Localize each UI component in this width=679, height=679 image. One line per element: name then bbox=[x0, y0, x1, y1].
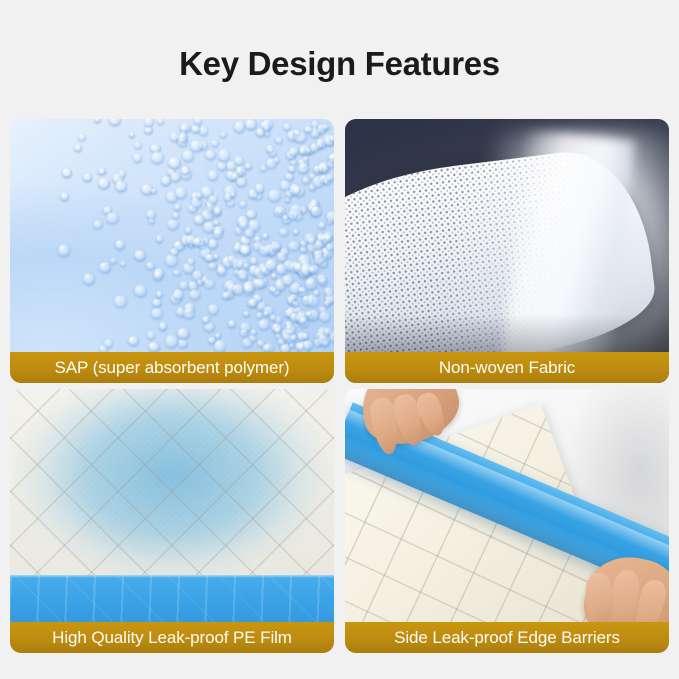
sap-bead bbox=[317, 124, 327, 134]
sap-bead bbox=[288, 241, 300, 251]
sap-bead bbox=[151, 151, 163, 164]
sap-bead bbox=[114, 295, 127, 308]
sap-bead bbox=[202, 316, 210, 324]
sap-bead bbox=[312, 176, 324, 188]
sap-bead bbox=[239, 201, 247, 209]
sap-bead bbox=[190, 140, 202, 151]
sap-bead bbox=[173, 270, 180, 276]
sap-bead bbox=[289, 147, 299, 156]
key-design-features-page: Key Design Features SAP (super absorbent… bbox=[0, 0, 679, 679]
sap-bead bbox=[153, 271, 163, 282]
feature-card-edge-barriers[interactable]: Side Leak-proof Edge Barriers bbox=[345, 389, 669, 653]
sap-bead bbox=[243, 311, 250, 317]
sap-bead bbox=[187, 258, 195, 265]
feature-card-pe-film[interactable]: High Quality Leak-proof PE Film bbox=[10, 389, 334, 653]
sap-bead bbox=[271, 273, 277, 279]
sap-bead bbox=[115, 240, 125, 250]
sap-bead bbox=[288, 165, 296, 173]
sap-bead bbox=[115, 180, 127, 193]
sap-bead bbox=[289, 184, 301, 195]
sap-bead bbox=[150, 188, 157, 194]
feature-caption-edge-barriers: Side Leak-proof Edge Barriers bbox=[345, 622, 669, 653]
sap-bead bbox=[156, 235, 164, 243]
sap-bead bbox=[226, 161, 237, 171]
feature-card-non-woven-fabric[interactable]: Non-woven Fabric bbox=[345, 119, 669, 383]
sap-bead bbox=[234, 121, 245, 133]
feature-caption-sap: SAP (super absorbent polymer) bbox=[10, 352, 334, 383]
sap-bead bbox=[318, 222, 326, 229]
sap-bead bbox=[168, 157, 181, 169]
sap-bead bbox=[178, 339, 188, 348]
sap-bead bbox=[262, 233, 269, 239]
sap-bead bbox=[161, 176, 171, 186]
sap-bead bbox=[183, 308, 196, 319]
sap-bead bbox=[220, 132, 226, 138]
sap-bead bbox=[147, 331, 156, 339]
sap-bead bbox=[231, 258, 244, 269]
sap-bead bbox=[194, 119, 202, 125]
sap-bead bbox=[174, 204, 181, 211]
sap-bead bbox=[134, 250, 146, 261]
feature-caption-non-woven-fabric: Non-woven Fabric bbox=[345, 352, 669, 383]
sap-bead bbox=[60, 192, 69, 201]
pe-film-band bbox=[10, 575, 334, 622]
sap-bead bbox=[232, 284, 244, 295]
sap-bead bbox=[282, 275, 294, 286]
sap-bead bbox=[279, 228, 289, 237]
sap-bead bbox=[98, 178, 110, 189]
sap-bead bbox=[255, 183, 265, 193]
sap-bead bbox=[208, 304, 219, 316]
sap-bead bbox=[224, 193, 233, 202]
sap-bead bbox=[293, 229, 299, 235]
sap-bead bbox=[144, 127, 153, 135]
sap-bead bbox=[148, 342, 160, 353]
sap-bead bbox=[276, 264, 288, 275]
sap-bead bbox=[213, 206, 222, 215]
sap-bead bbox=[228, 320, 236, 329]
sap-bead bbox=[317, 274, 327, 284]
sap-bead bbox=[185, 227, 192, 235]
sap-bead bbox=[319, 311, 331, 322]
sap-bead bbox=[329, 135, 334, 142]
sap-bead bbox=[83, 173, 92, 182]
sap-bead bbox=[300, 246, 307, 253]
feature-card-sap[interactable]: SAP (super absorbent polymer) bbox=[10, 119, 334, 383]
sap-bead bbox=[98, 168, 105, 176]
sap-bead bbox=[151, 308, 163, 319]
sap-bead bbox=[175, 187, 187, 199]
sap-bead bbox=[298, 163, 309, 174]
sap-bead bbox=[324, 327, 332, 335]
sap-bead bbox=[173, 289, 184, 300]
sap-bead bbox=[243, 281, 255, 292]
sap-beads-cluster bbox=[10, 119, 334, 383]
sap-bead bbox=[314, 254, 324, 265]
sap-bead bbox=[258, 319, 270, 330]
sap-bead bbox=[290, 334, 297, 341]
sap-bead bbox=[259, 245, 270, 256]
sap-bead bbox=[305, 311, 312, 317]
sap-bead bbox=[177, 328, 189, 339]
sap-bead bbox=[129, 132, 135, 137]
sap-bead bbox=[167, 219, 179, 230]
sap-bead bbox=[74, 144, 82, 152]
sap-bead bbox=[292, 301, 298, 307]
sap-bead bbox=[215, 333, 221, 339]
sap-bead bbox=[236, 177, 247, 187]
sap-bead bbox=[245, 119, 257, 130]
sap-bead bbox=[245, 163, 252, 170]
sap-bead bbox=[303, 156, 309, 162]
sap-bead bbox=[120, 261, 126, 267]
sap-bead bbox=[204, 279, 215, 289]
sap-bead bbox=[208, 239, 219, 249]
sap-bead bbox=[146, 210, 156, 220]
sap-bead bbox=[266, 158, 277, 168]
sap-bead bbox=[246, 210, 256, 220]
sap-bead bbox=[264, 126, 270, 132]
sap-bead bbox=[310, 143, 320, 152]
sap-bead bbox=[192, 238, 201, 246]
sap-bead bbox=[222, 292, 230, 301]
non-woven-fabric-photo bbox=[345, 119, 669, 383]
sap-bead bbox=[303, 340, 313, 350]
sap-bead bbox=[208, 195, 218, 204]
feature-grid: SAP (super absorbent polymer) Non-woven … bbox=[10, 119, 669, 653]
feature-caption-pe-film: High Quality Leak-proof PE Film bbox=[10, 622, 334, 653]
sap-bead bbox=[213, 254, 219, 260]
sap-bead bbox=[189, 289, 201, 300]
sap-bead bbox=[83, 273, 95, 285]
sap-bead bbox=[197, 279, 204, 286]
sap-bead bbox=[199, 126, 209, 135]
sap-bead bbox=[178, 134, 187, 142]
sap-bead bbox=[165, 254, 177, 267]
sap-bead bbox=[134, 142, 141, 149]
sap-bead bbox=[144, 119, 155, 127]
sap-bead bbox=[106, 212, 119, 224]
sap-bead bbox=[240, 329, 248, 337]
sap-bead bbox=[93, 220, 103, 229]
sap-bead bbox=[326, 174, 334, 182]
sap-bead bbox=[110, 258, 117, 265]
page-title: Key Design Features bbox=[0, 44, 679, 84]
sap-bead bbox=[109, 119, 121, 126]
sap-bead bbox=[311, 206, 322, 217]
sap-bead bbox=[277, 209, 283, 214]
sap-bead bbox=[236, 166, 246, 176]
sap-bead bbox=[146, 262, 155, 270]
sap-bead bbox=[214, 340, 226, 353]
sap-bead bbox=[285, 324, 296, 334]
pe-film-photo bbox=[10, 389, 334, 653]
sap-bead bbox=[326, 211, 334, 222]
sap-bead bbox=[181, 166, 191, 175]
sap-bead bbox=[299, 148, 306, 155]
sap-beads-photo bbox=[10, 119, 334, 383]
sap-bead bbox=[152, 299, 161, 308]
sap-bead bbox=[218, 149, 230, 161]
sap-bead bbox=[217, 266, 226, 276]
sap-bead bbox=[302, 333, 309, 339]
sap-bead bbox=[172, 212, 180, 219]
sap-bead bbox=[134, 285, 147, 298]
sap-bead bbox=[305, 278, 316, 290]
sap-bead bbox=[211, 140, 219, 148]
sap-bead bbox=[205, 150, 216, 161]
pe-film-crease-texture bbox=[10, 575, 334, 622]
sap-bead bbox=[213, 229, 223, 239]
sap-bead bbox=[256, 312, 263, 319]
sap-bead bbox=[268, 189, 281, 202]
sap-bead bbox=[133, 153, 142, 162]
sap-bead bbox=[324, 287, 334, 296]
sap-bead bbox=[208, 262, 217, 270]
sap-bead bbox=[128, 336, 139, 346]
sap-bead bbox=[196, 192, 204, 199]
sap-bead bbox=[239, 221, 248, 230]
sap-bead bbox=[310, 267, 317, 273]
sap-bead bbox=[182, 150, 194, 162]
sap-bead bbox=[249, 335, 256, 342]
sap-bead bbox=[157, 119, 164, 125]
sap-bead bbox=[99, 262, 111, 273]
sap-bead bbox=[208, 170, 218, 180]
sap-bead bbox=[94, 119, 101, 123]
sap-bead bbox=[324, 300, 331, 307]
sap-bead bbox=[78, 134, 86, 142]
sap-bead bbox=[240, 246, 251, 256]
sap-bead bbox=[307, 294, 319, 306]
sap-bead bbox=[156, 291, 163, 297]
sap-bead bbox=[328, 154, 334, 162]
sap-bead bbox=[165, 335, 177, 347]
sap-bead bbox=[62, 168, 72, 178]
sap-bead bbox=[275, 137, 283, 144]
sap-bead bbox=[170, 172, 181, 183]
sap-bead bbox=[58, 244, 70, 257]
sap-bead bbox=[159, 322, 168, 331]
edge-barriers-photo bbox=[345, 389, 669, 653]
sap-bead bbox=[326, 243, 334, 251]
sap-bead bbox=[298, 287, 305, 293]
sap-bead bbox=[204, 322, 215, 332]
